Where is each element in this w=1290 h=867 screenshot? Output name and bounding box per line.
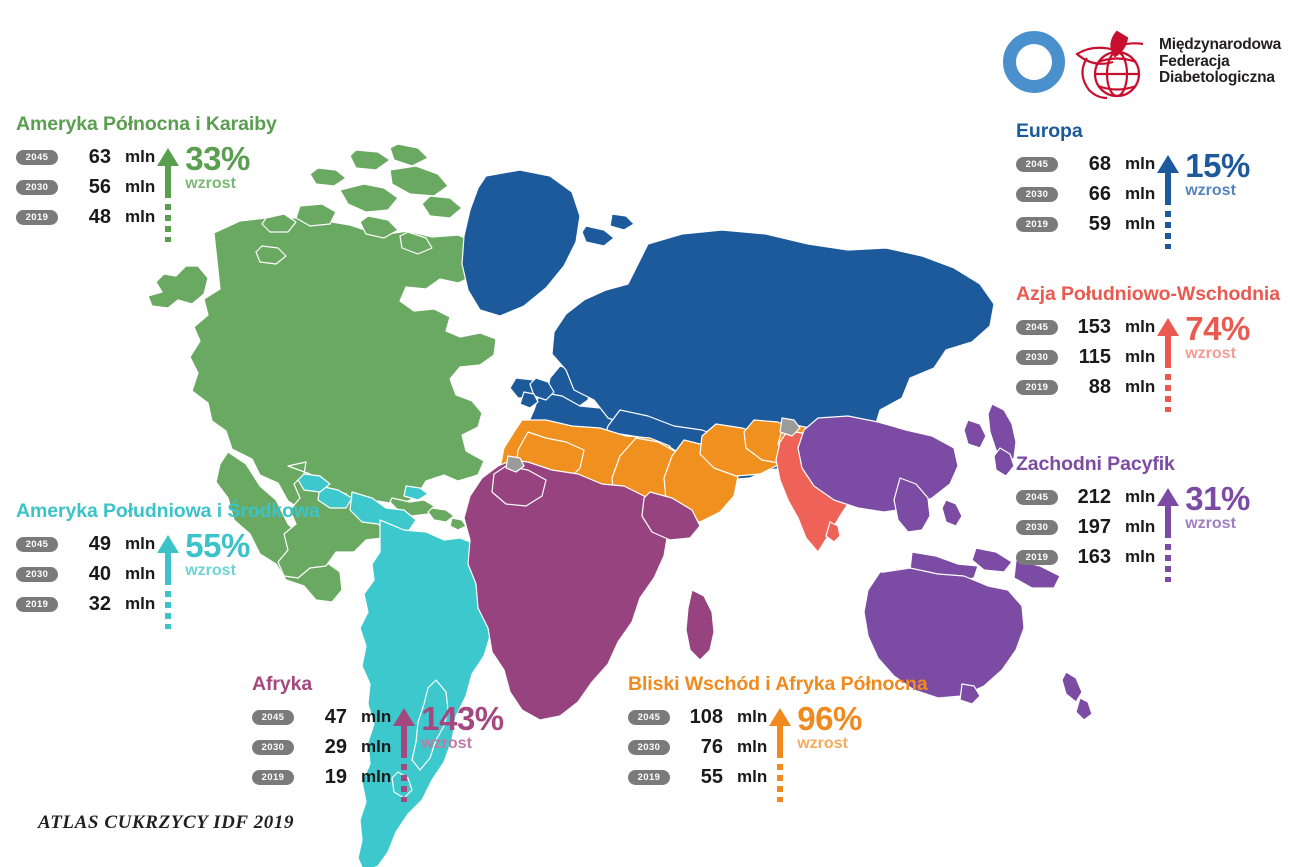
unit: mln [1111,547,1155,567]
up-arrow-icon [391,706,417,802]
up-arrow-icon [1155,486,1181,582]
growth-percent: 33% [185,144,250,174]
value: 40 [58,563,111,586]
up-arrow-icon [1155,153,1181,249]
year-badge: 2030 [1016,187,1058,202]
year-badge: 2045 [16,150,58,165]
data-row: 2030 40 mln [16,559,155,589]
value: 19 [294,766,347,789]
unit: mln [1111,487,1155,507]
year-badge: 2019 [16,210,58,225]
data-row: 2019 48 mln [16,202,155,232]
growth-percent: 74% [1185,314,1250,344]
region-growth: 143% wzrost [391,702,503,802]
value: 59 [1058,213,1111,236]
data-row: 2045 63 mln [16,142,155,172]
region-growth: 31% wzrost [1155,482,1250,582]
unit: mln [1111,347,1155,367]
data-row: 2030 66 mln [1016,179,1155,209]
year-badge: 2030 [16,180,58,195]
growth-label: wzrost [797,736,862,752]
region-title: Azja Południowo-Wschodnia [1016,283,1280,306]
region-data-rows: 2045 68 mln 2030 66 mln 2019 59 mln [1016,149,1155,239]
value: 163 [1058,546,1111,569]
growth-label: wzrost [421,736,503,752]
region-title: Afryka [252,673,504,696]
data-row: 2030 56 mln [16,172,155,202]
year-badge: 2045 [1016,320,1058,335]
value: 88 [1058,376,1111,399]
value: 153 [1058,316,1111,339]
region-data-rows: 2045 108 mln 2030 76 mln 2019 55 mln [628,702,767,792]
region-title: Bliski Wschód i Afryka Północna [628,673,928,696]
region-data-rows: 2045 47 mln 2030 29 mln 2019 19 mln [252,702,391,792]
data-row: 2030 115 mln [1016,342,1155,372]
region-growth: 74% wzrost [1155,312,1250,412]
value: 115 [1058,346,1111,369]
up-arrow-icon [155,146,181,242]
data-row: 2045 108 mln [628,702,767,732]
data-row: 2019 88 mln [1016,372,1155,402]
growth-label: wzrost [1185,516,1250,532]
unit: mln [1111,154,1155,174]
value: 56 [58,176,111,199]
data-row: 2019 59 mln [1016,209,1155,239]
region-title: Ameryka Północna i Karaiby [16,113,277,136]
data-row: 2030 197 mln [1016,512,1155,542]
idf-blue-circle-icon [1003,31,1065,93]
unit: mln [1111,184,1155,204]
data-row: 2045 68 mln [1016,149,1155,179]
growth-label: wzrost [185,176,250,192]
year-badge: 2019 [1016,550,1058,565]
unit: mln [723,767,767,787]
unit: mln [347,737,391,757]
region-card-europe: Europa 2045 68 mln 2030 66 mln 2019 59 m… [1016,120,1250,249]
region-title: Zachodni Pacyfik [1016,453,1250,476]
unit: mln [1111,517,1155,537]
up-arrow-icon [767,706,793,802]
growth-percent: 15% [1185,151,1250,181]
year-badge: 2045 [1016,490,1058,505]
year-badge: 2045 [1016,157,1058,172]
idf-logo-text: Międzynarodowa Federacja Diabetologiczna [1159,37,1281,87]
unit: mln [347,767,391,787]
up-arrow-icon [155,533,181,629]
value: 48 [58,206,111,229]
year-badge: 2030 [252,740,294,755]
unit: mln [111,564,155,584]
unit: mln [1111,214,1155,234]
value: 212 [1058,486,1111,509]
logo-line-3: Diabetologiczna [1159,70,1281,87]
growth-percent: 143% [421,704,503,734]
logo-line-1: Międzynarodowa [1159,37,1281,54]
year-badge: 2019 [1016,217,1058,232]
unit: mln [111,534,155,554]
data-row: 2019 32 mln [16,589,155,619]
unit: mln [1111,317,1155,337]
year-badge: 2045 [252,710,294,725]
data-row: 2019 19 mln [252,762,391,792]
data-row: 2030 76 mln [628,732,767,762]
data-row: 2045 49 mln [16,529,155,559]
up-arrow-icon [1155,316,1181,412]
year-badge: 2030 [1016,350,1058,365]
idf-bird-globe-icon [1073,20,1151,104]
growth-label: wzrost [1185,346,1250,362]
region-growth: 15% wzrost [1155,149,1250,249]
region-growth: 55% wzrost [155,529,250,629]
data-row: 2045 47 mln [252,702,391,732]
region-card-north-america: Ameryka Północna i Karaiby 2045 63 mln 2… [16,113,277,242]
growth-percent: 55% [185,531,250,561]
value: 76 [670,736,723,759]
value: 47 [294,706,347,729]
year-badge: 2019 [628,770,670,785]
data-row: 2019 55 mln [628,762,767,792]
region-data-rows: 2045 63 mln 2030 56 mln 2019 48 mln [16,142,155,232]
data-row: 2045 153 mln [1016,312,1155,342]
region-data-rows: 2045 212 mln 2030 197 mln 2019 163 mln [1016,482,1155,572]
value: 197 [1058,516,1111,539]
growth-percent: 96% [797,704,862,734]
region-title: Europa [1016,120,1250,143]
year-badge: 2030 [16,567,58,582]
value: 55 [670,766,723,789]
year-badge: 2030 [628,740,670,755]
region-growth: 33% wzrost [155,142,250,242]
unit: mln [347,707,391,727]
region-title: Ameryka Południowa i Środkowa [16,500,320,523]
value: 66 [1058,183,1111,206]
source-caption: ATLAS CUKRZYCY IDF 2019 [38,812,294,834]
unit: mln [723,737,767,757]
data-row: 2019 163 mln [1016,542,1155,572]
region-data-rows: 2045 153 mln 2030 115 mln 2019 88 mln [1016,312,1155,402]
value: 49 [58,533,111,556]
region-card-western-pacific: Zachodni Pacyfik 2045 212 mln 2030 197 m… [1016,453,1250,582]
value: 108 [670,706,723,729]
region-data-rows: 2045 49 mln 2030 40 mln 2019 32 mln [16,529,155,619]
region-growth: 96% wzrost [767,702,862,802]
year-badge: 2019 [16,597,58,612]
value: 32 [58,593,111,616]
growth-label: wzrost [185,563,250,579]
unit: mln [111,177,155,197]
region-card-south-east-asia: Azja Południowo-Wschodnia 2045 153 mln 2… [1016,283,1280,412]
data-row: 2045 212 mln [1016,482,1155,512]
year-badge: 2019 [252,770,294,785]
growth-percent: 31% [1185,484,1250,514]
region-card-africa: Afryka 2045 47 mln 2030 29 mln 2019 19 m… [252,673,504,802]
unit: mln [111,594,155,614]
unit: mln [111,207,155,227]
idf-logo: Międzynarodowa Federacja Diabetologiczna [1003,16,1283,108]
unit: mln [1111,377,1155,397]
year-badge: 2030 [1016,520,1058,535]
year-badge: 2045 [628,710,670,725]
value: 29 [294,736,347,759]
growth-label: wzrost [1185,183,1250,199]
logo-line-2: Federacja [1159,54,1281,71]
region-card-middle-east-north-africa: Bliski Wschód i Afryka Północna 2045 108… [628,673,928,802]
unit: mln [723,707,767,727]
year-badge: 2045 [16,537,58,552]
region-card-south-america: Ameryka Południowa i Środkowa 2045 49 ml… [16,500,320,629]
value: 68 [1058,153,1111,176]
year-badge: 2019 [1016,380,1058,395]
value: 63 [58,146,111,169]
data-row: 2030 29 mln [252,732,391,762]
unit: mln [111,147,155,167]
